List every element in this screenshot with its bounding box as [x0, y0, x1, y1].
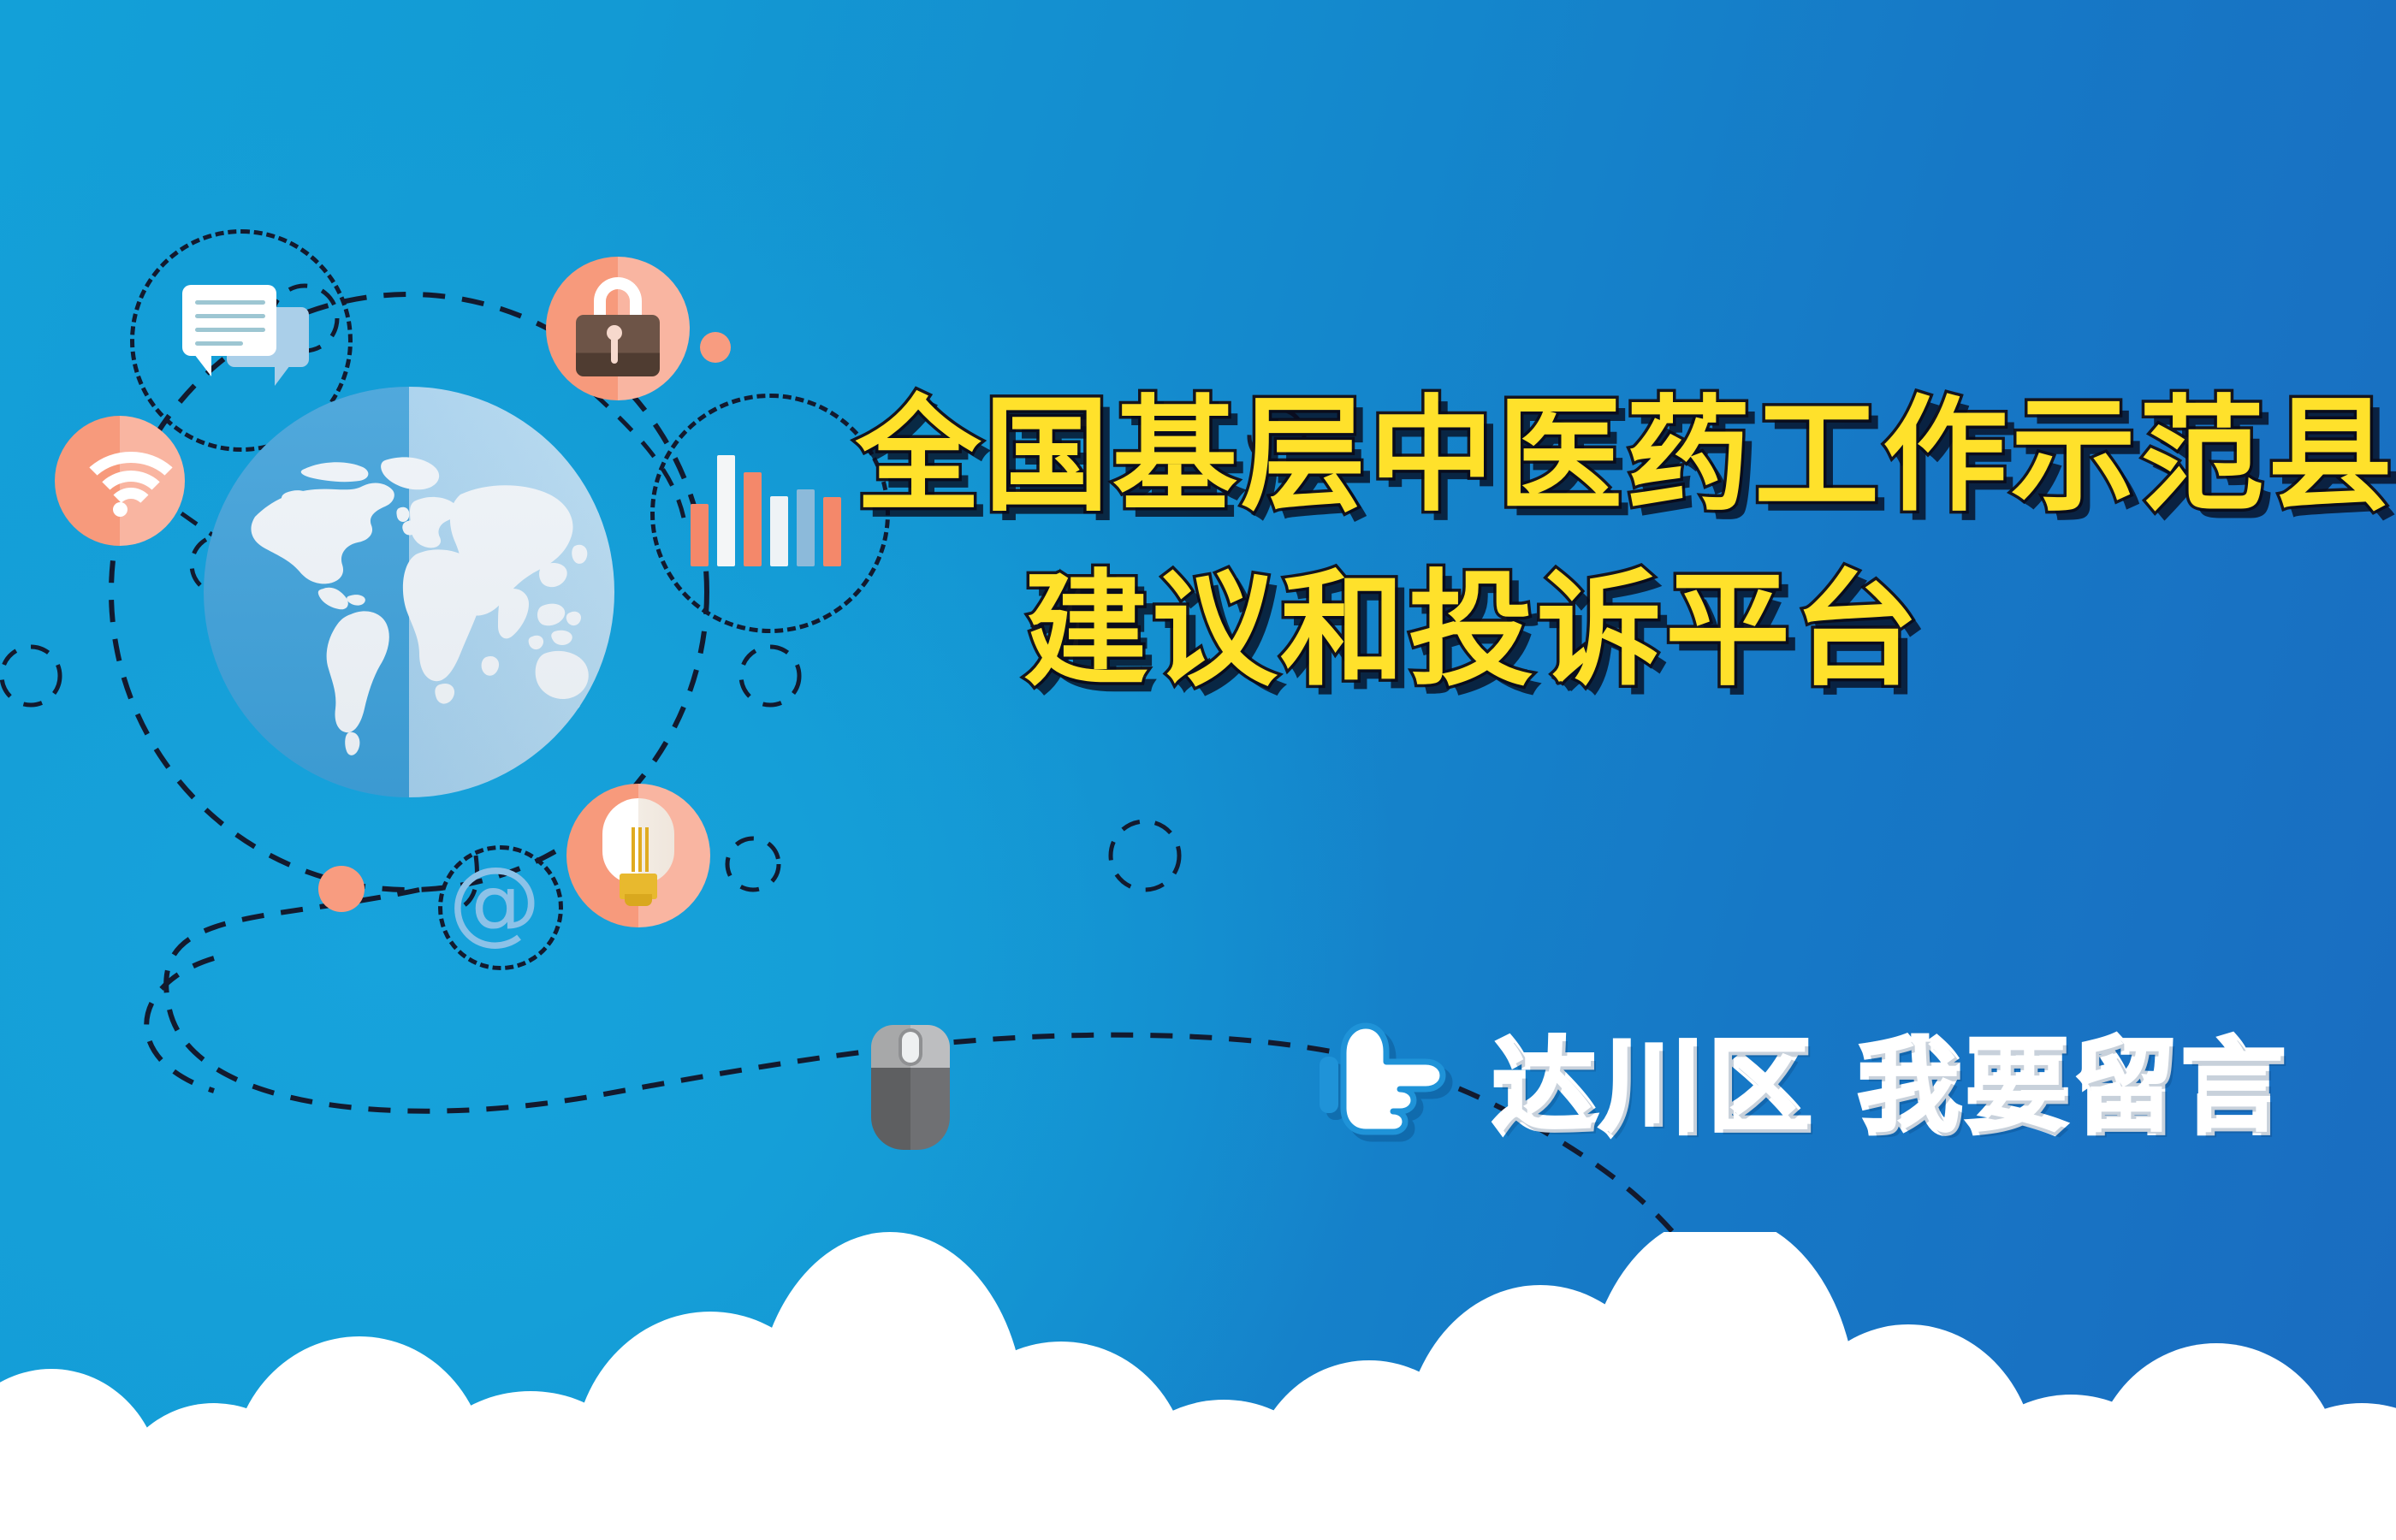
mouse-scroll-wheel — [902, 1032, 919, 1063]
promo-banner: @ 全国基层中医药工作示范县 建议和投诉平台 达川区 我要留言 — [0, 0, 2396, 1540]
accent-dot — [700, 332, 731, 363]
chart-bar — [823, 497, 841, 566]
lock-keyhole-stem — [611, 336, 618, 364]
lock-icon — [546, 257, 690, 400]
accent-dot — [318, 866, 365, 912]
globe-icon — [204, 387, 614, 797]
cta-label[interactable]: 达川区 我要留言 — [1494, 1005, 2291, 1152]
cta-row[interactable]: 达川区 我要留言 — [1318, 1005, 2291, 1152]
at-sign-icon: @ — [448, 856, 541, 948]
title-block: 全国基层中医药工作示范县 建议和投诉平台 — [856, 394, 2345, 693]
mouse-bottom-shell — [871, 1068, 950, 1150]
chart-bar — [744, 472, 762, 566]
wifi-icon — [55, 416, 185, 546]
pointing-hand-icon — [1318, 1019, 1446, 1139]
page-title-line-1: 全国基层中医药工作示范县 — [856, 394, 2345, 518]
chart-bar — [797, 489, 815, 566]
bulb-base-tip — [625, 894, 652, 906]
chart-bar — [770, 496, 788, 566]
chart-bars — [691, 455, 841, 566]
lightbulb-icon — [566, 784, 710, 927]
cloud-decoration — [0, 1232, 2396, 1540]
chat-bubble-front — [182, 285, 276, 356]
page-title-line-2: 建议和投诉平台 — [1023, 568, 2345, 693]
chat-bubbles-icon — [168, 257, 323, 412]
chart-bar — [691, 504, 709, 566]
computer-mouse-icon — [871, 1025, 950, 1150]
chart-bar — [717, 455, 735, 566]
wifi-dot — [113, 502, 128, 517]
globe-continents — [204, 387, 614, 797]
lock-body — [576, 315, 660, 376]
bar-chart-icon — [690, 435, 842, 587]
